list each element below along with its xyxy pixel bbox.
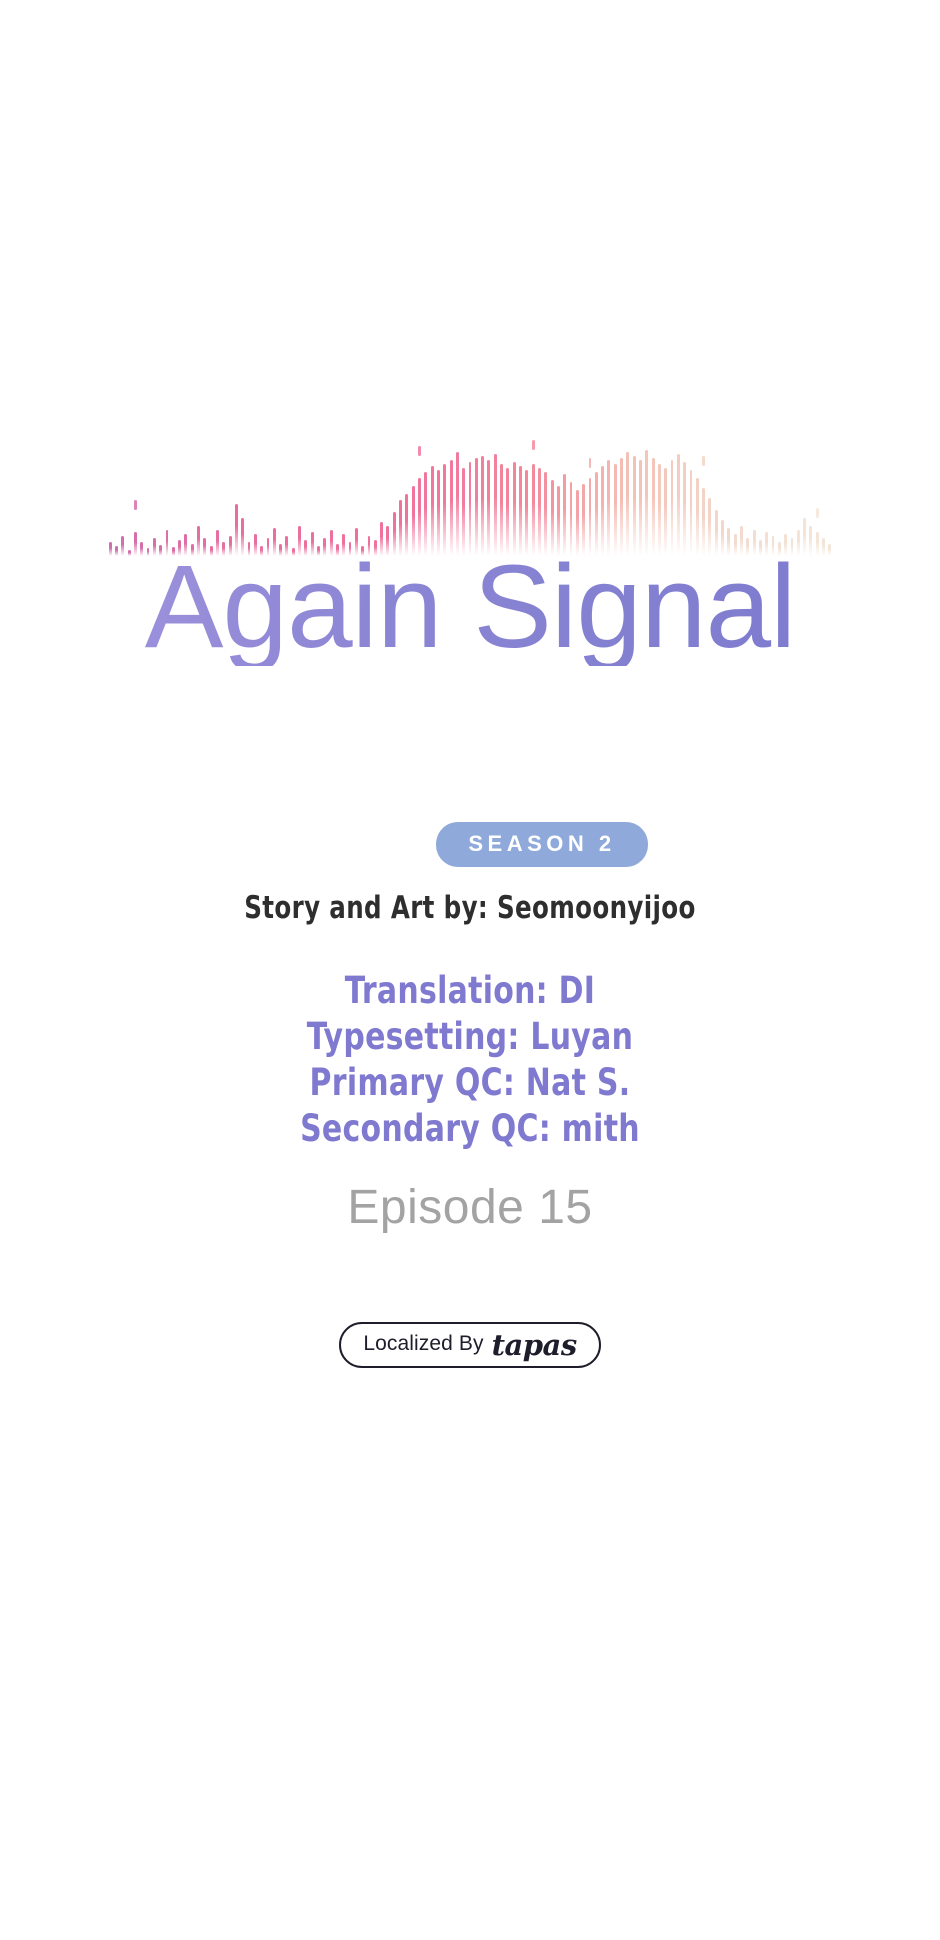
staff-credit-secondary-qc: Secondary QC: mith <box>47 1106 893 1152</box>
waveform-accent-dot <box>589 458 592 468</box>
staff-credit-translation: Translation: DI <box>47 968 893 1014</box>
page-title: Again Signal <box>145 548 796 666</box>
localized-by-tapas-badge: Localized By tapas <box>339 1322 600 1368</box>
audio-waveform-graphic <box>0 436 940 556</box>
season-badge: SEASON 2 <box>436 822 647 867</box>
staff-credits-list: Translation: DI Typesetting: Luyan Prima… <box>0 968 940 1152</box>
tapas-badge-row: Localized By tapas <box>0 1322 940 1368</box>
tapas-brand-logo: tapas <box>492 1328 577 1362</box>
waveform-accent-dot <box>532 440 535 450</box>
title-block: Again Signal <box>0 548 940 666</box>
waveform-accent-dot <box>816 508 819 518</box>
audio-waveform-icon <box>107 436 833 556</box>
episode-label: Episode 15 <box>0 1180 940 1235</box>
story-and-art-credit: Story and Art by: Seomoonyijoo <box>56 890 883 926</box>
waveform-accent-dot <box>702 456 705 466</box>
waveform-accent-dot <box>418 446 421 456</box>
staff-credit-primary-qc: Primary QC: Nat S. <box>47 1060 893 1106</box>
season-badge-row: SEASON 2 <box>0 822 940 867</box>
staff-credit-typesetting: Typesetting: Luyan <box>47 1014 893 1060</box>
waveform-accent-dot <box>134 500 137 510</box>
localized-by-label: Localized By <box>363 1332 483 1356</box>
episode-title-page: Again Signal SEASON 2 Story and Art by: … <box>0 0 940 1940</box>
